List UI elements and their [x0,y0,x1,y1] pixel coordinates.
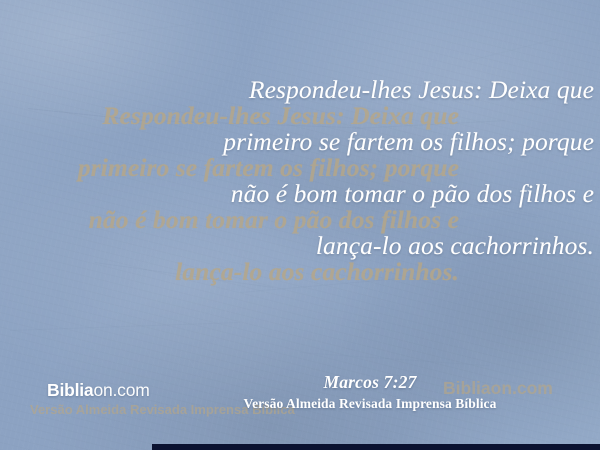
logo-word-biblia: Biblia [47,380,93,400]
verse-text: Respondeu-lhes Jesus: Deixa que primeiro… [0,64,600,272]
verse-reference: Marcos 7:27 [150,372,590,393]
verse-image-canvas: Respondeu-lhes Jesus: Deixa que primeiro… [0,0,600,450]
logo-word-oncom: on.com [93,380,149,400]
bibliaon-logo[interactable]: Bibliaon.com [47,380,150,401]
bottom-bar [152,444,600,450]
reference-block: Marcos 7:27 Versão Almeida Revisada Impr… [150,372,590,412]
footer: Bibliaon.com Versão Almeida Revisada Imp… [0,358,600,450]
bible-version-label: Versão Almeida Revisada Imprensa Bíblica [150,396,590,412]
